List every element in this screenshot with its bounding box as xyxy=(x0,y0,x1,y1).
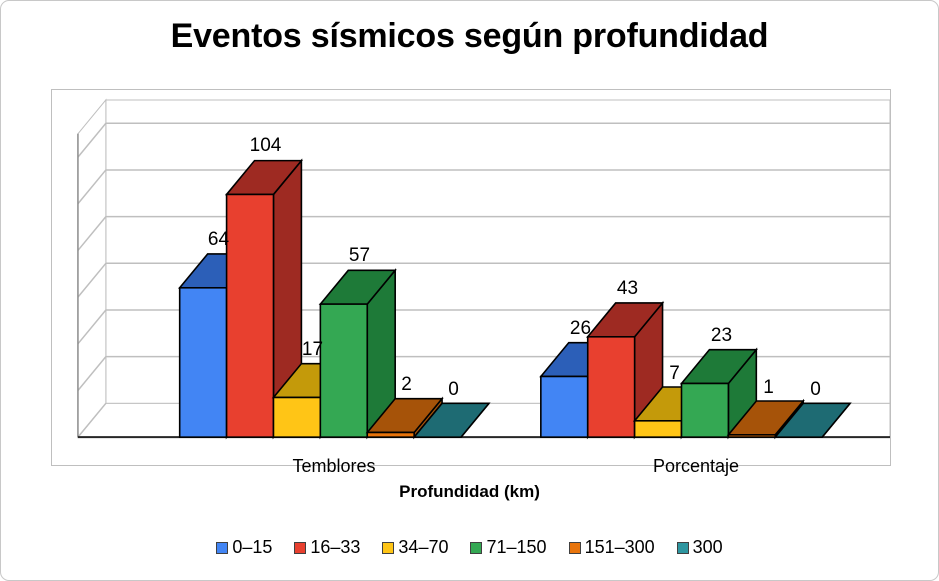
legend-label: 0–15 xyxy=(232,537,272,558)
legend-item[interactable]: 71–150 xyxy=(470,537,546,558)
chart-legend: 0–1516–3334–7071–150151–300300 xyxy=(1,537,938,558)
legend-label: 16–33 xyxy=(310,537,360,558)
data-label: 7 xyxy=(669,364,680,383)
x-axis-category-label: Temblores xyxy=(292,456,375,477)
data-label: 23 xyxy=(711,326,732,345)
chart-container: Eventos sísmicos según profundidad 02040… xyxy=(0,0,939,581)
data-label: 104 xyxy=(250,136,282,155)
legend-swatch-icon xyxy=(569,542,581,554)
legend-swatch-icon xyxy=(216,542,228,554)
legend-label: 300 xyxy=(693,537,723,558)
legend-swatch-icon xyxy=(470,542,482,554)
data-label: 43 xyxy=(617,279,638,298)
legend-label: 151–300 xyxy=(585,537,655,558)
legend-item[interactable]: 151–300 xyxy=(569,537,655,558)
data-label: 64 xyxy=(208,230,229,249)
legend-label: 71–150 xyxy=(486,537,546,558)
data-label: 57 xyxy=(349,246,370,265)
legend-swatch-icon xyxy=(294,542,306,554)
legend-item[interactable]: 16–33 xyxy=(294,537,360,558)
data-label: 1 xyxy=(763,378,774,397)
legend-swatch-icon xyxy=(677,542,689,554)
data-label: 0 xyxy=(448,380,459,399)
plot-area xyxy=(51,89,891,466)
x-axis-category-label: Porcentaje xyxy=(653,456,739,477)
legend-item[interactable]: 300 xyxy=(677,537,723,558)
x-axis-title: Profundidad (km) xyxy=(1,482,938,502)
legend-item[interactable]: 34–70 xyxy=(382,537,448,558)
legend-swatch-icon xyxy=(382,542,394,554)
legend-item[interactable]: 0–15 xyxy=(216,537,272,558)
plot-canvas xyxy=(52,90,890,465)
legend-label: 34–70 xyxy=(398,537,448,558)
data-label: 0 xyxy=(810,380,821,399)
data-label: 2 xyxy=(401,375,412,394)
data-label: 26 xyxy=(570,319,591,338)
chart-title: Eventos sísmicos según profundidad xyxy=(1,17,938,56)
data-label: 17 xyxy=(302,340,323,359)
